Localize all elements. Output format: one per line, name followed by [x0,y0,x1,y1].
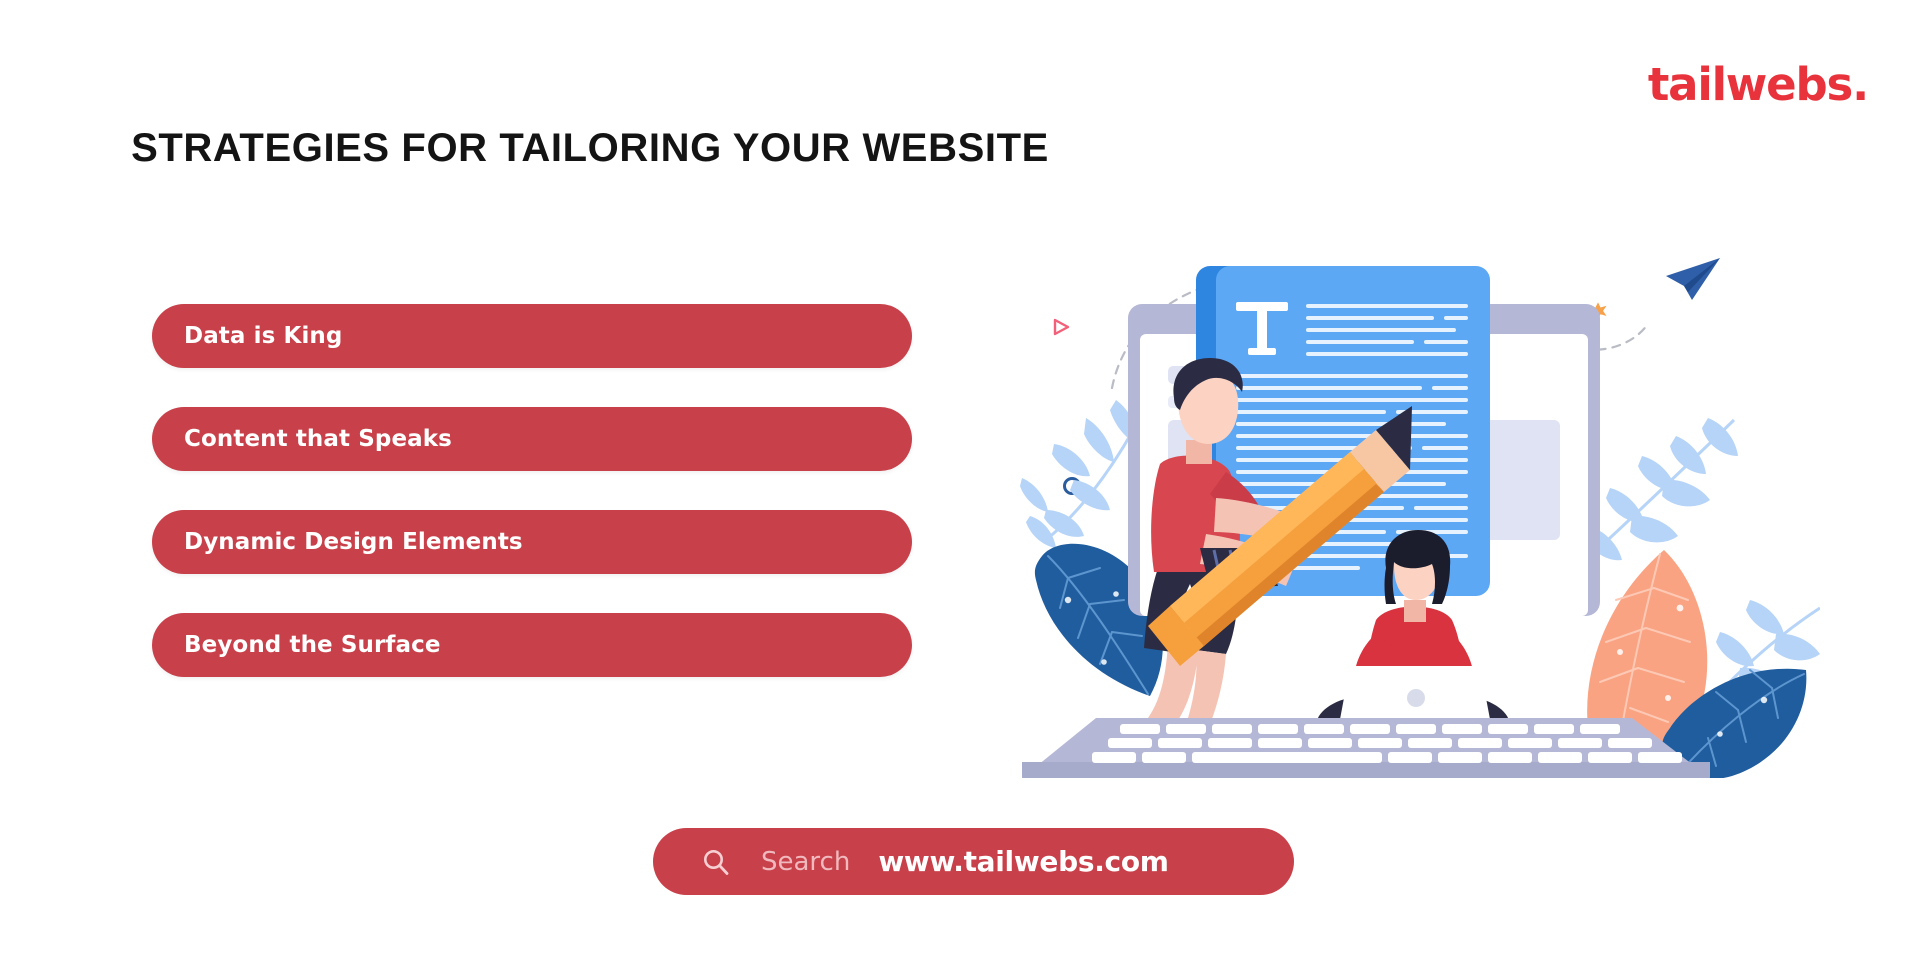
slide-root: tailwebs. STRATEGIES FOR TAILORING YOUR … [0,0,1920,960]
strategy-pill-dynamic-design-elements[interactable]: Dynamic Design Elements [152,510,912,574]
search-placeholder-label: Search [761,847,850,877]
search-bar[interactable]: Search www.tailwebs.com [653,828,1294,895]
page-title: STRATEGIES FOR TAILORING YOUR WEBSITE [0,126,1180,171]
laptop-base [1022,718,1710,778]
strategy-pill-label: Dynamic Design Elements [184,529,523,555]
strategy-pill-label: Beyond the Surface [184,632,441,658]
search-input-value[interactable]: www.tailwebs.com [878,845,1168,878]
paper-plane-icon [1666,258,1720,300]
brand-logo[interactable]: tailwebs. [1648,62,1868,107]
strategy-pill-data-is-king[interactable]: Data is King [152,304,912,368]
strategy-list: Data is King Content that Speaks Dynamic… [152,304,912,716]
search-icon [701,847,731,877]
strategy-pill-content-that-speaks[interactable]: Content that Speaks [152,407,912,471]
strategy-pill-label: Data is King [184,323,342,349]
strategy-pill-label: Content that Speaks [184,426,452,452]
pink-triangle-icon [1055,320,1068,334]
content-writing-illustration [1020,248,1820,778]
strategy-pill-beyond-the-surface[interactable]: Beyond the Surface [152,613,912,677]
